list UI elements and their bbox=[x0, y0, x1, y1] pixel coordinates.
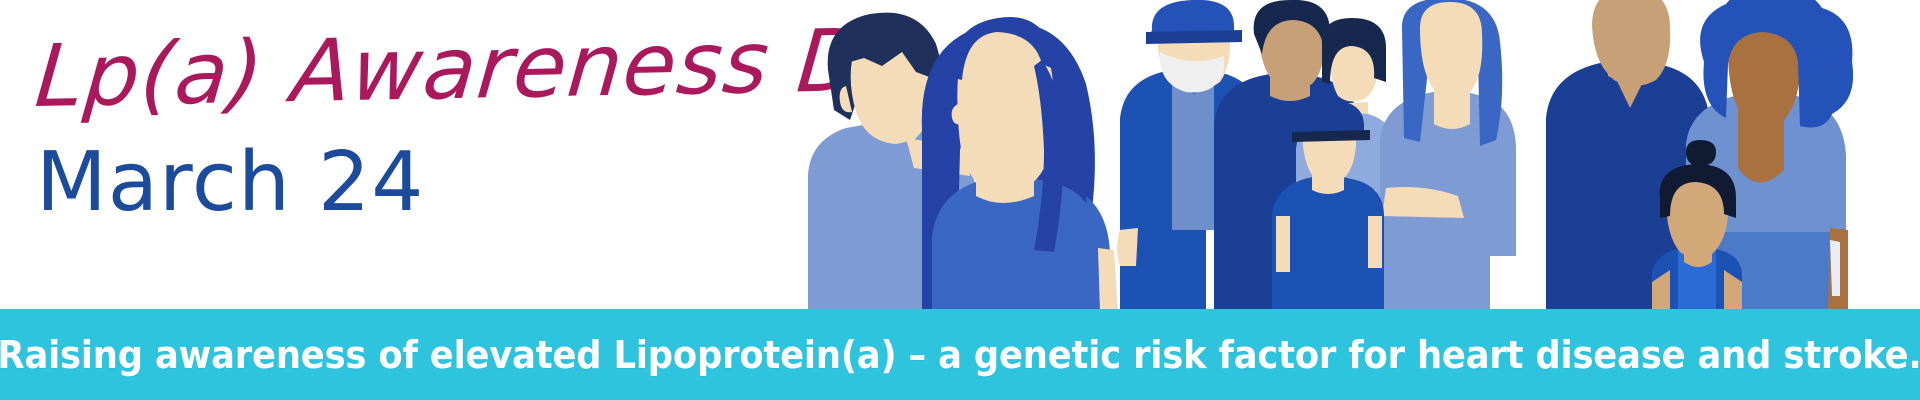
family-illustration-svg bbox=[790, 0, 1920, 312]
page-title-script: Lp(a) Awareness Day bbox=[32, 19, 801, 120]
girl-hair-bun bbox=[1686, 140, 1716, 166]
family-illustration bbox=[790, 0, 1920, 312]
group-multigenerational-family bbox=[1117, 0, 1516, 312]
headline-block: Lp(a) Awareness Day March 24 bbox=[0, 0, 820, 310]
group-mother-and-child bbox=[808, 13, 1118, 312]
tagline-text: Raising awareness of elevated Lipoprotei… bbox=[0, 333, 1920, 377]
elder-shirt bbox=[1172, 78, 1214, 230]
group-family-of-three bbox=[1546, 0, 1853, 312]
woman2-neck bbox=[1434, 82, 1470, 129]
boy-arm-left bbox=[1276, 216, 1290, 272]
elder-hand bbox=[1117, 228, 1138, 266]
elder-cap-brim bbox=[1146, 30, 1242, 44]
mother-arm bbox=[1098, 248, 1118, 312]
boy-arm-right bbox=[1368, 216, 1382, 268]
boy-cap-brim bbox=[1292, 130, 1370, 142]
tagline-band: Raising awareness of elevated Lipoprotei… bbox=[0, 309, 1920, 400]
event-date: March 24 bbox=[36, 142, 424, 224]
lpa-awareness-day-banner: Lp(a) Awareness Day March 24 bbox=[0, 0, 1920, 400]
